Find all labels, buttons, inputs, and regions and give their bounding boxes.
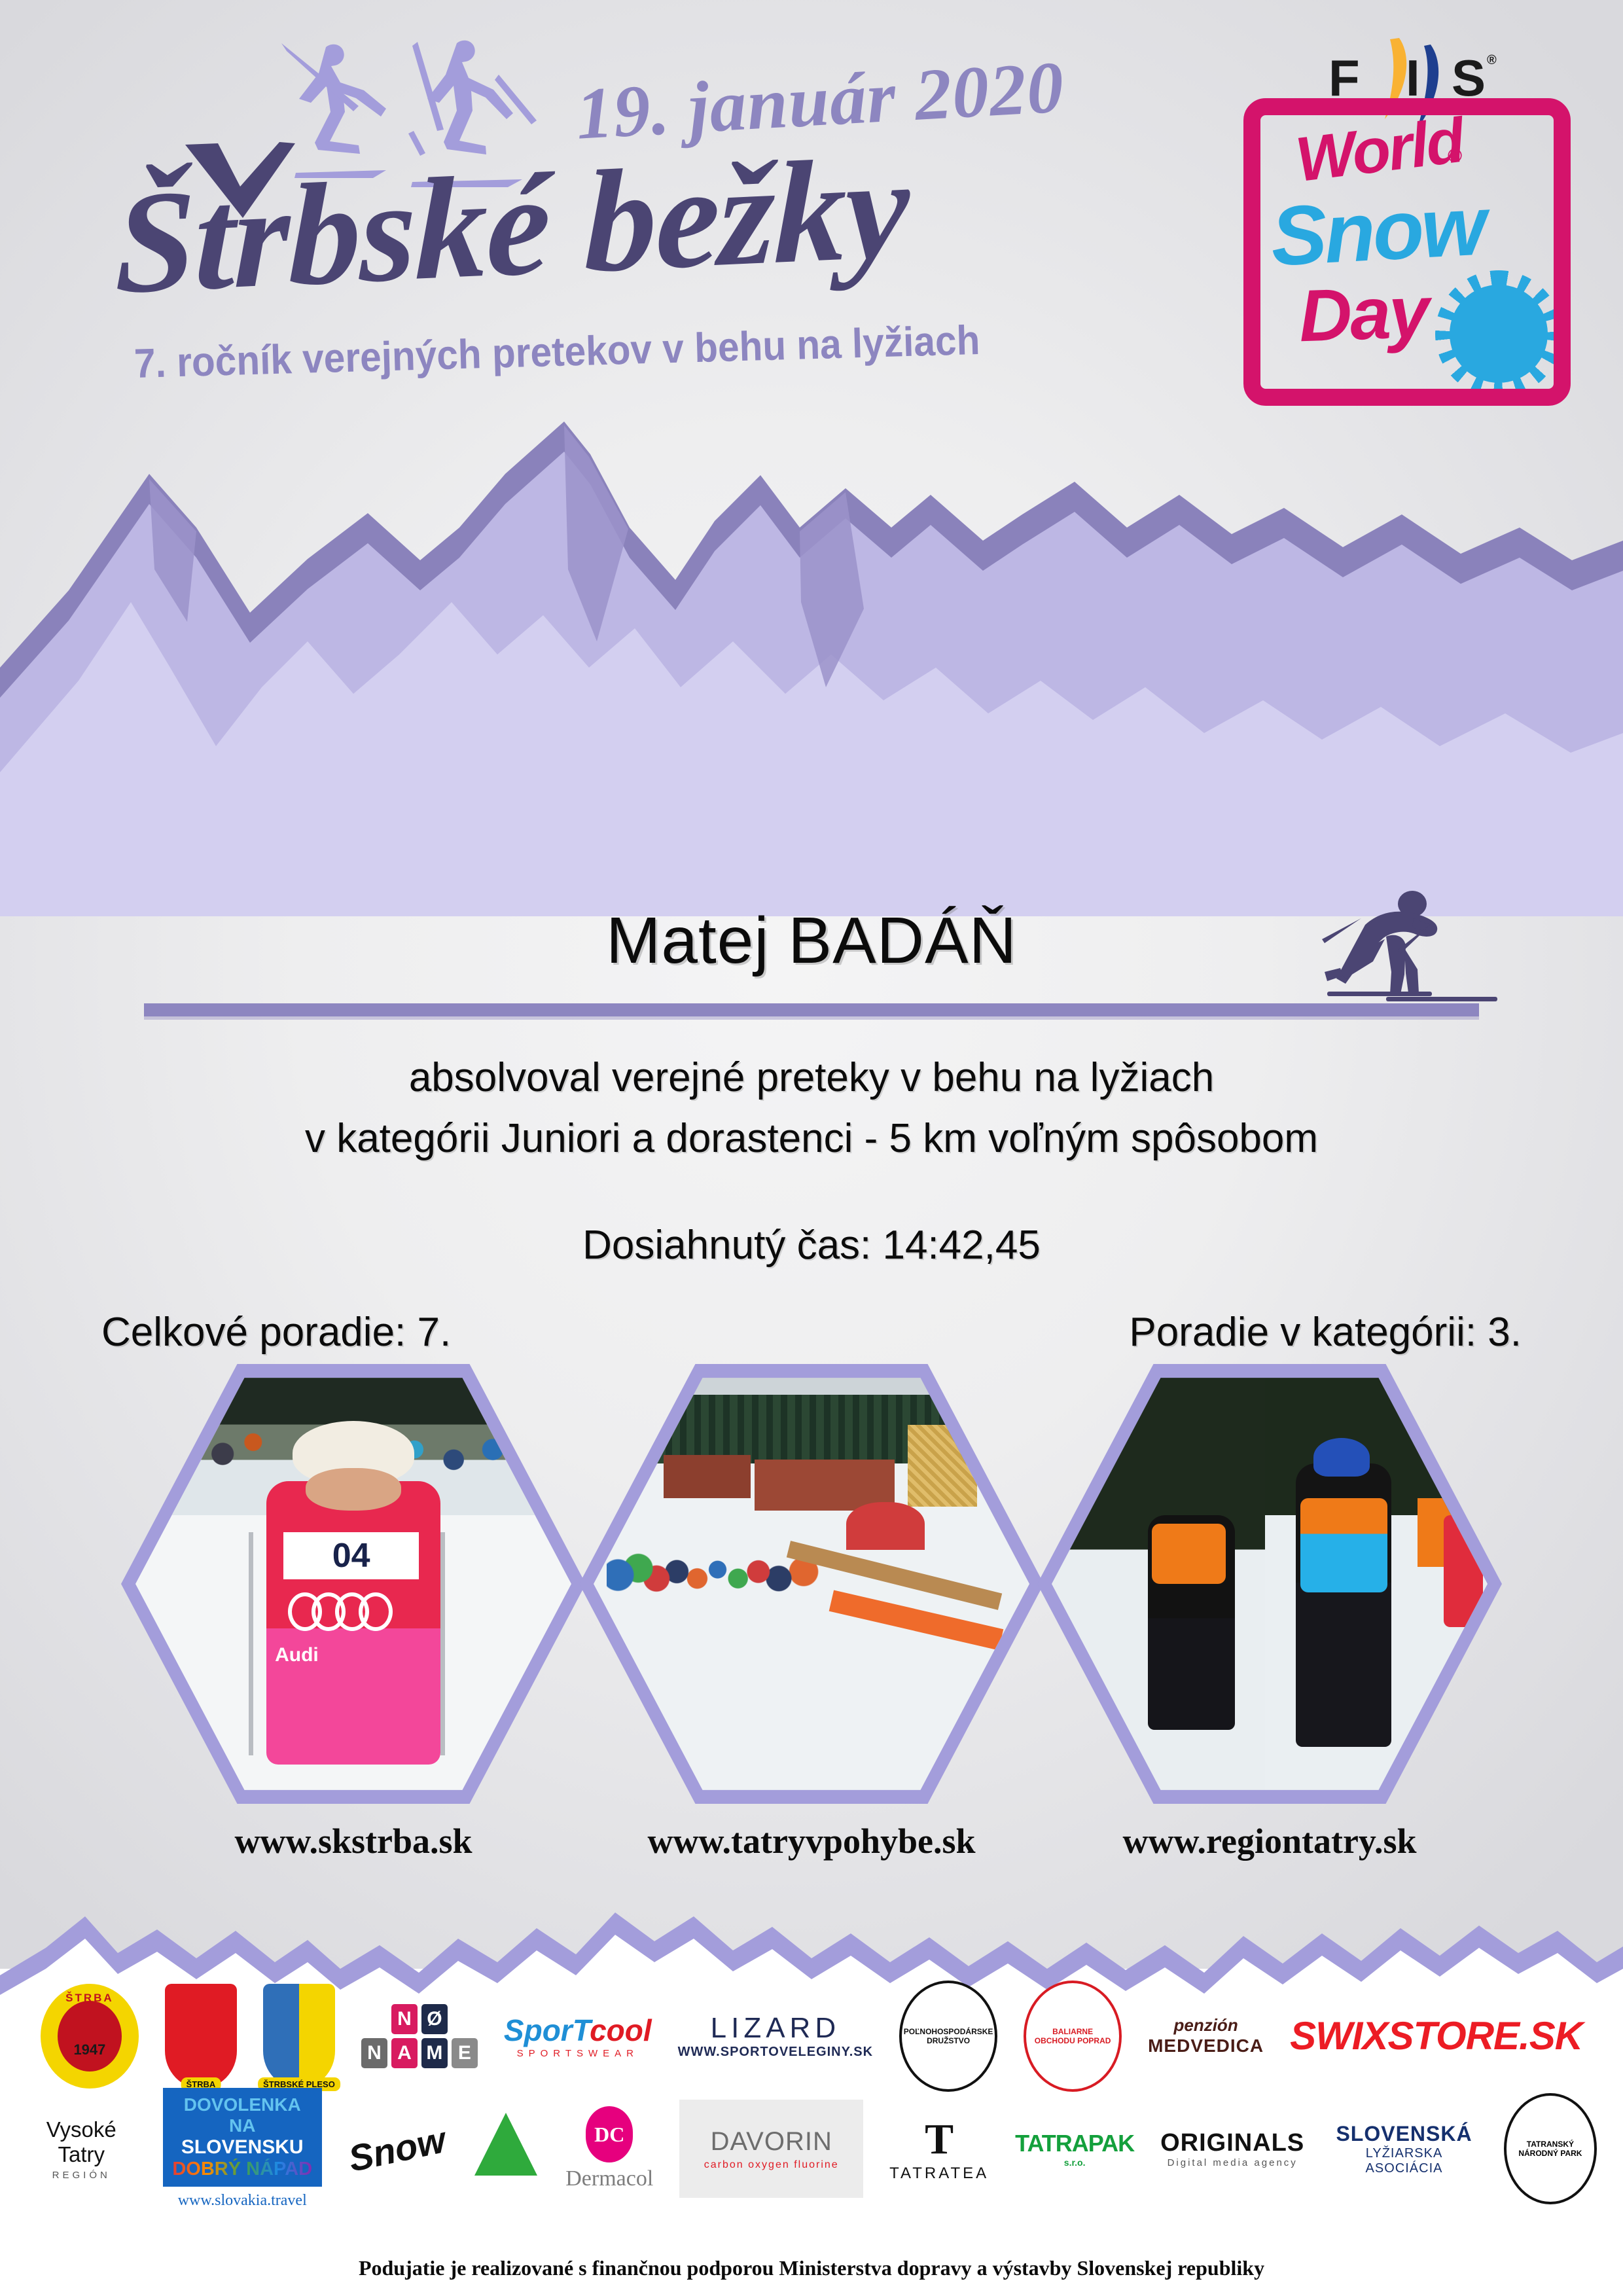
registered-trademark-icon: ® (1448, 145, 1462, 168)
sponsor-logo-strbske-pleso: ŠTRBSKÉ PLESO (263, 1984, 335, 2089)
sponsor-logo-horska-sluzba-tanap: TATRANSKÝ NÁRODNÝ PARK (1504, 2093, 1597, 2204)
hex-frame (1037, 1355, 1502, 1813)
certificate-line-1: absolvoval verejné preteky v behu na lyž… (0, 1054, 1623, 1101)
photo-hexagon-3: www.regiontatry.sk (1037, 1355, 1502, 1813)
photo-male-skiers (1052, 1369, 1488, 1799)
tanap-ring-text: TATRANSKÝ NÁRODNÝ PARK (1513, 2140, 1588, 2158)
medvedica-top: penzión (1173, 2015, 1238, 2036)
ministry-support-note: Podujatie je realizované s finančnou pod… (0, 2256, 1623, 2280)
sponsor-logo-slovenska-lyziarska-asociacia: SLOVENSKÁ LYŽIARSKA ASOCIÁCIA (1330, 2122, 1478, 2176)
page-title: Štrbské bežky (115, 124, 909, 327)
certificate-line-2: v kategórii Juniori a dorastenci - 5 km … (0, 1115, 1623, 1162)
bib-brand: Audi (275, 1644, 388, 1670)
category-rank: Poradie v kategórii: 3. (1129, 1309, 1522, 1355)
name-divider-rule (144, 1003, 1479, 1016)
certificate-body: Matej BADÁŇ absolvoval verejné preteky v… (0, 903, 1623, 1355)
davorin-sub: carbon oxygen fluorine (704, 2159, 839, 2171)
sks-year-label: 1947 (73, 2041, 105, 2058)
lizard-main: LIZARD (711, 2012, 840, 2045)
sponsor-logo-sk-strba: ŠTRBA 1947 (41, 1984, 139, 2089)
sponsor-logo-tatratea: T TATRATEA (889, 2115, 989, 2183)
sponsor-logo-slovakia-travel: DOVOLENKA NA SLOVENSKU DOBRÝ NÁPAD www.s… (163, 2088, 322, 2210)
photo-caption-3[interactable]: www.regiontatry.sk (1037, 1821, 1502, 1861)
sponsor-logo-lizard: LIZARD WWW.SPORTOVELEGINY.SK (678, 2012, 873, 2060)
tatratea-name: TATRATEA (889, 2164, 989, 2183)
sponsor-logo-ps-urbar-strba: PS URBÁR ŠTRBA (472, 2100, 539, 2198)
dermacol-badge: DC (586, 2106, 633, 2162)
cross-country-skier-icon (1302, 876, 1518, 1014)
sponsor-logo-pd-strba: POĽNOHOSPODÁRSKE DRUŽSTVO (899, 1981, 997, 2092)
sponsor-logos: ŠTRBA 1947 ŠTRBA ŠTRBSKÉ PLESO N Ø N A M… (0, 1972, 1623, 2253)
sponsor-logo-obec-strba: ŠTRBA (165, 1984, 237, 2089)
dovolenka-line-1: DOVOLENKA NA (171, 2094, 314, 2136)
medvedica-bottom: MEDVEDICA (1148, 2036, 1264, 2056)
world-snow-day-logo: F I S ® World Snow Day ® (1230, 20, 1584, 412)
tatrapak-main: TATRAPAK (1015, 2130, 1134, 2157)
rank-row: Celkové poradie: 7. Poradie v kategórii:… (0, 1309, 1623, 1355)
sla-line-1: SLOVENSKÁ (1336, 2122, 1472, 2146)
photo-caption-2[interactable]: www.tatryvpohybe.sk (579, 1821, 1044, 1861)
davorin-main: DAVORIN (711, 2127, 832, 2157)
urbar-line-1: PS URBÁR (468, 2185, 512, 2195)
photo-caption-1[interactable]: www.skstrba.sk (121, 1821, 586, 1861)
dovolenka-line-2: SLOVENSKU (171, 2136, 314, 2159)
sponsor-logo-vysoke-tatry: Vysoké Tatry REGIÓN (26, 2117, 137, 2181)
tatratea-glyph: T (925, 2115, 954, 2164)
sponsor-logo-davorin: DAVORIN carbon oxygen fluorine (679, 2100, 863, 2198)
originals-sub: Digital media agency (1168, 2157, 1298, 2168)
sponsor-logo-originals: ORIGINALS Digital media agency (1160, 2129, 1304, 2168)
sks-top-label: ŠTRBA (65, 1992, 114, 2005)
lizard-url: WWW.SPORTOVELEGINY.SK (678, 2045, 873, 2060)
sponsor-logo-swixstore: SWIXSTORE.SK (1290, 2013, 1582, 2058)
bop-ring-text: BALIARNE OBCHODU POPRAD (1033, 2027, 1113, 2045)
photo-child-skier: 04 Audi (135, 1369, 571, 1799)
globe-snowflake-icon (1450, 285, 1548, 383)
hex-frame: 04 Audi (121, 1355, 586, 1813)
urbar-line-2: ŠTRBA (514, 2185, 544, 2195)
pd-ring-text: POĽNOHOSPODÁRSKE DRUŽSTVO (904, 2027, 993, 2045)
wsd-word-snow: Snow (1268, 178, 1486, 285)
photo-race-venue (594, 1369, 1029, 1799)
tatrapak-sub: s.r.o. (1064, 2157, 1086, 2168)
sla-line-2: LYŽIARSKA ASOCIÁCIA (1330, 2146, 1478, 2176)
photo-gallery: 04 Audi www.skstrba.sk (0, 1355, 1623, 1865)
slovakia-travel-url[interactable]: www.slovakia.travel (178, 2192, 307, 2210)
photo-hexagon-2: www.tatryvpohybe.sk (579, 1355, 1044, 1813)
sponsor-logo-penzion-medvedica: penzión MEDVEDICA (1148, 2015, 1264, 2056)
sponsor-logo-no-name: N Ø N A M E (361, 2004, 478, 2068)
photo-hexagon-1: 04 Audi www.skstrba.sk (121, 1355, 586, 1813)
poster-header: 19. január 2020 Štrbské bežky 7. ročník … (0, 0, 1623, 419)
sponsor-logo-tatrapak: TATRAPAK s.r.o. (1015, 2130, 1134, 2168)
sportcool-sub: SPORTSWEAR (517, 2048, 639, 2059)
sponsor-footer: ŠTRBA 1947 ŠTRBA ŠTRBSKÉ PLESO N Ø N A M… (0, 1890, 1623, 2296)
vt-sub: REGIÓN (52, 2170, 111, 2181)
hex-frame (579, 1355, 1044, 1813)
bib-number: 04 (283, 1532, 418, 1579)
wsd-word-day: Day (1298, 270, 1429, 359)
mountain-range-illustration (0, 406, 1623, 916)
vt-name: Vysoké Tatry (26, 2117, 137, 2167)
sponsor-logo-snow-strbske-pleso: Snow (345, 2118, 450, 2180)
sponsor-logo-dermacol: DC Dermacol (565, 2106, 653, 2191)
sponsor-logo-sportcool: SporTcool SPORTSWEAR (504, 2013, 652, 2059)
result-time: Dosiahnutý čas: 14:42,45 (0, 1222, 1623, 1268)
originals-main: ORIGINALS (1160, 2129, 1304, 2157)
sponsor-logo-baliarne-poprad: BALIARNE OBCHODU POPRAD (1024, 1981, 1122, 2092)
event-subtitle: 7. ročník verejných pretekov v behu na l… (134, 317, 980, 387)
dovolenka-line-3: DOBRÝ NÁPAD (171, 2159, 314, 2180)
dermacol-name: Dermacol (565, 2166, 653, 2191)
overall-rank: Celkové poradie: 7. (101, 1309, 451, 1355)
svg-text:®: ® (1487, 53, 1497, 67)
